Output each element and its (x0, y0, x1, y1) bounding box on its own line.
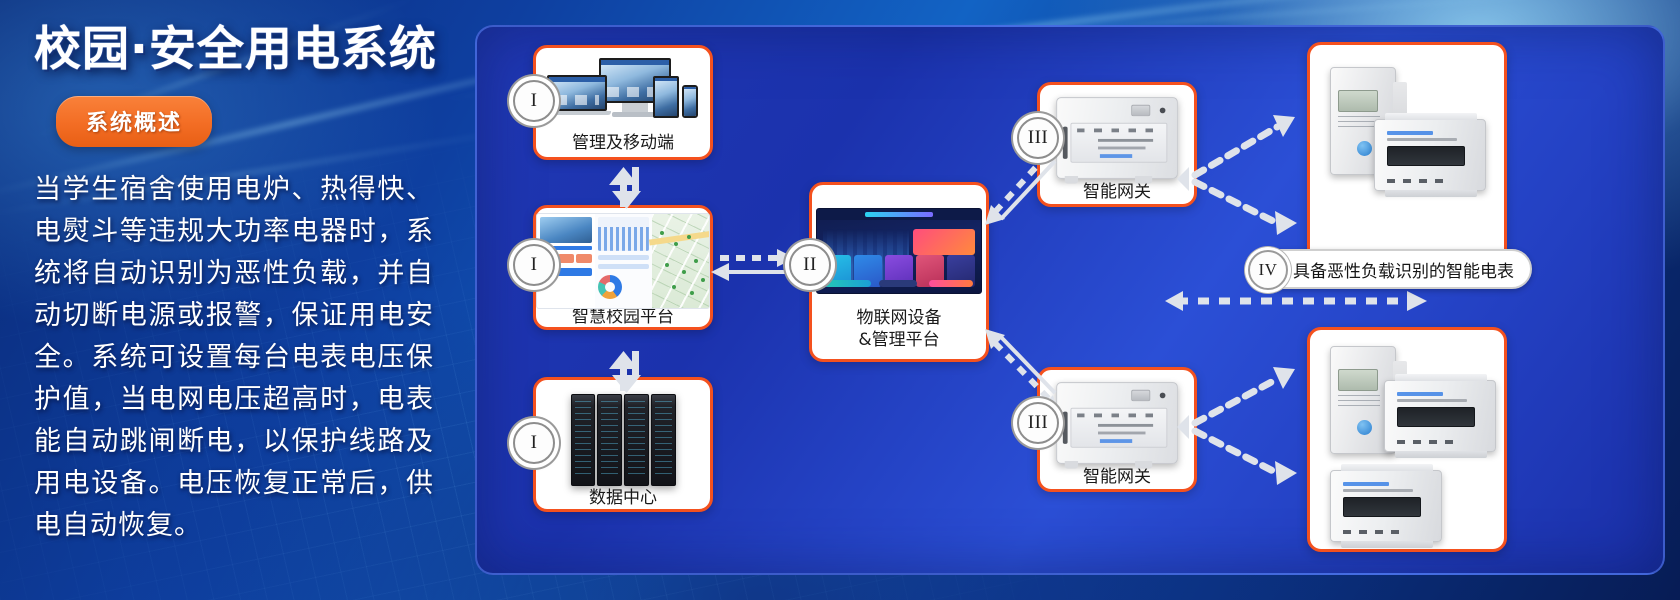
marker-roman-i-datacenter: I (513, 422, 555, 464)
arrow-gatewaybottom-meters (1177, 367, 1297, 485)
marker-roman-iii-gateway-bottom: III (1017, 402, 1059, 444)
marker-roman-ii-iot: II (789, 244, 831, 286)
arrow-admin-campus (609, 167, 641, 209)
callout-smart-meter[interactable]: IV 具备恶性负载识别的智能电表 (1247, 249, 1532, 289)
overview-paragraph: 当学生宿舍使用电炉、热得快、电熨斗等违规大功率电器时，系统将自动识别为恶性负载，… (34, 169, 434, 547)
marker-roman-iv: IV (1248, 250, 1288, 290)
marker-roman-i-campus: I (513, 244, 555, 286)
arrow-iot-gateway-bottom (985, 329, 1059, 415)
architecture-diagram: 管理及移动端 I (475, 25, 1665, 575)
connector-layer (477, 27, 1665, 575)
arrow-gatewaytop-meters (1177, 115, 1297, 235)
callout-smart-meter-label: 具备恶性负载识别的智能电表 (1293, 257, 1514, 282)
section-badge: 系统概述 (56, 96, 212, 147)
page-title: 校园·安全用电系统 (34, 22, 448, 78)
overview-panel: 校园·安全用电系统 系统概述 当学生宿舍使用电炉、热得快、电熨斗等违规大功率电器… (0, 0, 468, 600)
marker-roman-iii-gateway-top: III (1017, 117, 1059, 159)
arrow-campus-datacenter (609, 351, 641, 393)
arrow-campus-iot (711, 249, 795, 281)
arrow-center-meters (1165, 291, 1427, 311)
marker-roman-i-admin: I (513, 80, 555, 122)
